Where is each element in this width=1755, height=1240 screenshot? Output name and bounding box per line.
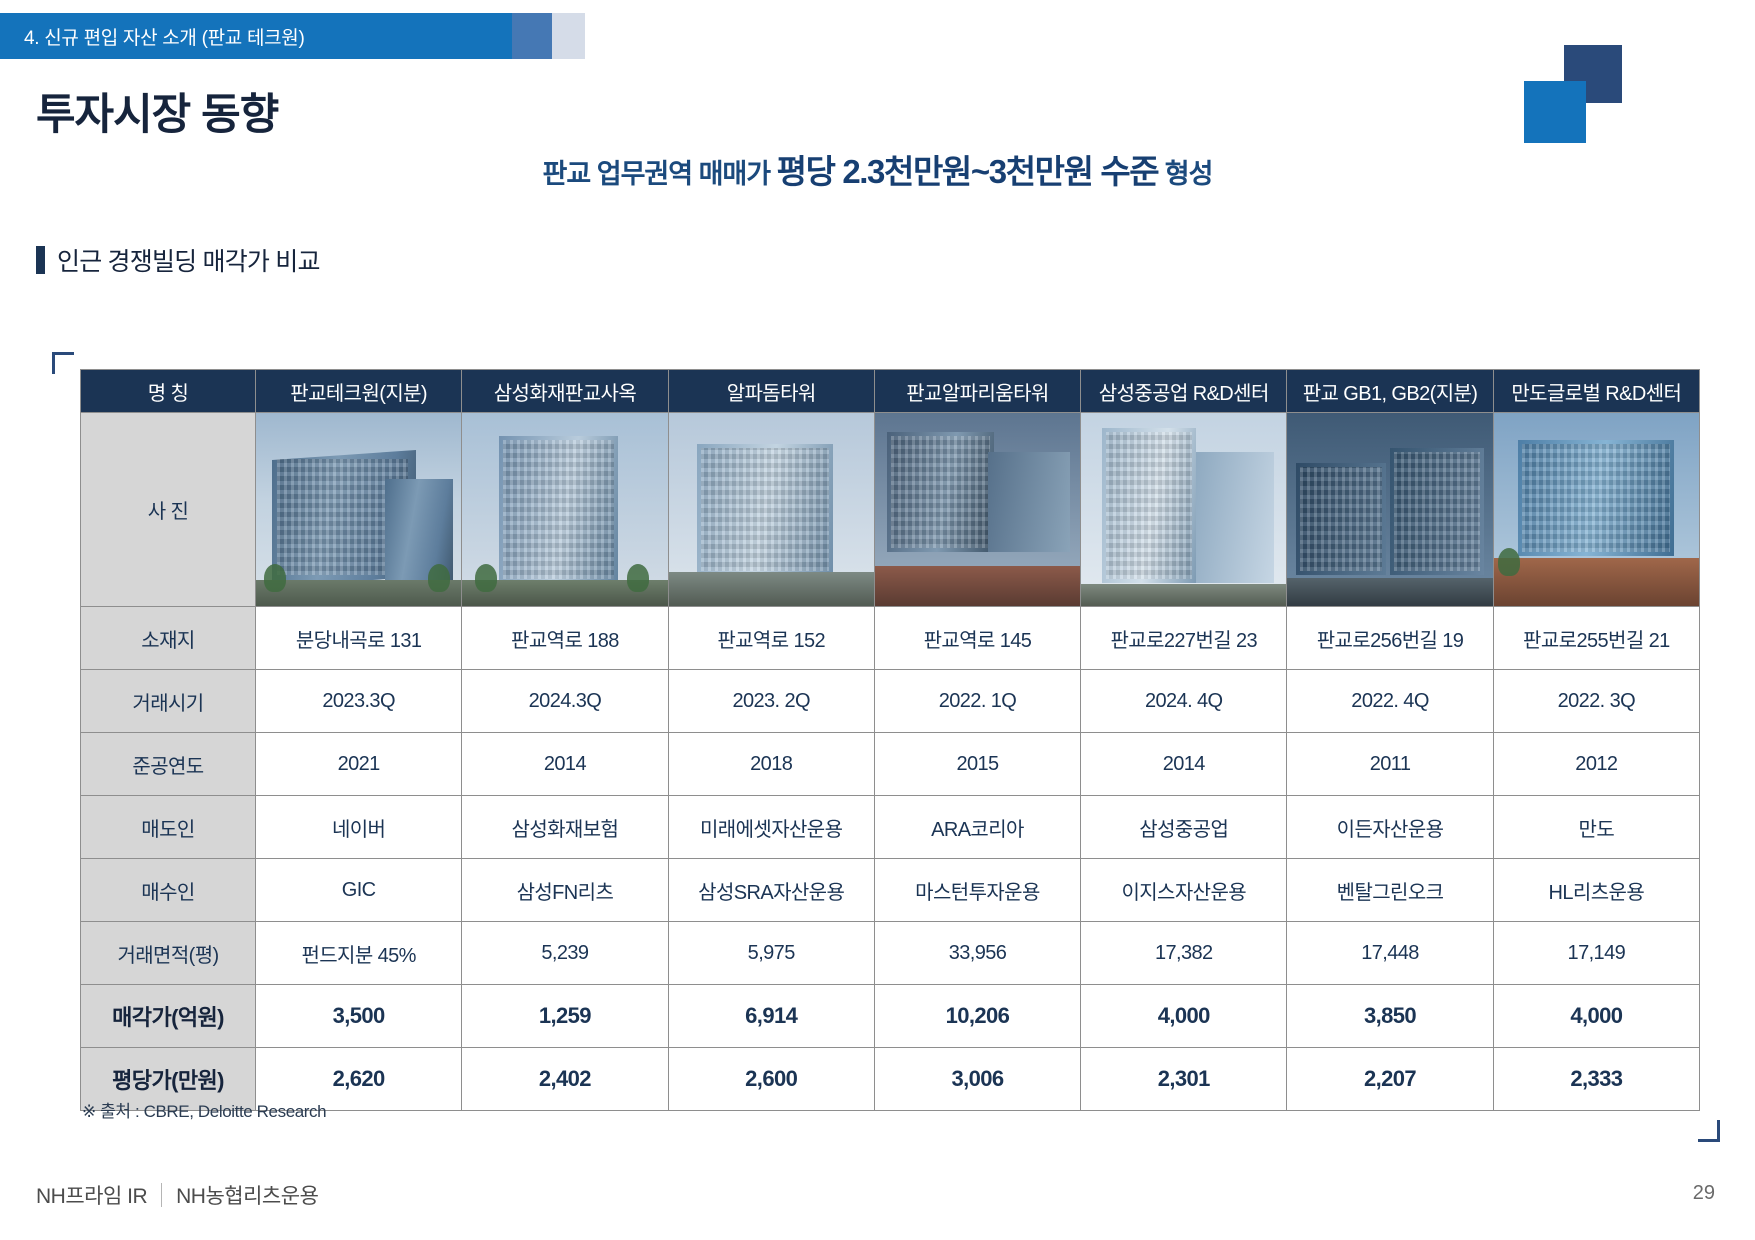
building-photo-samsung-heavy-rnd [1081,413,1287,607]
table-cell: 2023. 2Q [668,670,874,733]
table-cell: 4,000 [1493,985,1699,1048]
table-body: 사 진 [81,413,1700,1111]
table-cell: 2014 [462,733,668,796]
breadcrumb-main: 4. 신규 편입 자산 소개 (판교 테크원) [0,13,512,59]
page-number: 29 [1693,1182,1715,1205]
table-cell: HL리츠운용 [1493,859,1699,922]
column-header: 만도글로벌 R&D센터 [1493,370,1699,413]
table-row: 준공연도 2021 2014 2018 2015 2014 2011 2012 [81,733,1700,796]
subtitle-strong: 평당 2.3천만원~3천만원 수준 [777,153,1159,190]
table-cell: 2022. 1Q [874,670,1080,733]
table-cell: 분당내곡로 131 [256,607,462,670]
subtitle-suffix: 형성 [1158,159,1212,189]
table-cell: GIC [256,859,462,922]
table-cell: 판교로227번길 23 [1081,607,1287,670]
table-row: 매수인 GIC 삼성FN리츠 삼성SRA자산운용 마스턴투자운용 이지스자산운용… [81,859,1700,922]
row-label: 준공연도 [81,733,256,796]
subtitle: 판교 업무권역 매매가 평당 2.3천만원~3천만원 수준 형성 [0,145,1755,193]
building-photo-samsung-fire-pangyo [462,413,668,607]
table-cell: 2021 [256,733,462,796]
row-label: 거래시기 [81,670,256,733]
table-cell: 2024.3Q [462,670,668,733]
row-label: 매수인 [81,859,256,922]
row-label: 사 진 [81,413,256,607]
table-cell: 2,402 [462,1048,668,1111]
table-cell: 2011 [1287,733,1493,796]
subtitle-prefix: 판교 업무권역 매매가 [543,159,777,189]
table-cell: 2014 [1081,733,1287,796]
building-photo-pangyo-techone [256,413,462,607]
table-cell: 이든자산운용 [1287,796,1493,859]
table-row: 소재지 분당내곡로 131 판교역로 188 판교역로 152 판교역로 145… [81,607,1700,670]
footer: NH프라임 IR NH농협리츠운용 [36,1180,318,1210]
source-footnote: ※ 출처 : CBRE, Deloitte Research [82,1097,326,1122]
column-header: 삼성화재판교사옥 [462,370,668,413]
table-cell: 3,850 [1287,985,1493,1048]
comparison-table-wrap: 명 칭 판교테크원(지분) 삼성화재판교사옥 알파돔타워 판교알파리움타워 삼성… [80,369,1700,1111]
table-cell: 17,382 [1081,922,1287,985]
table-cell: 1,259 [462,985,668,1048]
column-header: 판교테크원(지분) [256,370,462,413]
row-label: 거래면적(평) [81,922,256,985]
breadcrumb-label: 4. 신규 편입 자산 소개 (판교 테크원) [24,23,305,50]
table-cell: 미래에셋자산운용 [668,796,874,859]
table-cell: 네이버 [256,796,462,859]
column-header: 판교알파리움타워 [874,370,1080,413]
table-cell: 5,239 [462,922,668,985]
table-cell: 만도 [1493,796,1699,859]
footer-divider [161,1183,162,1207]
frame-corner-top-left-v [52,352,55,374]
table-cell: 삼성SRA자산운용 [668,859,874,922]
table-cell: 삼성중공업 [1081,796,1287,859]
building-photo-mando-global-rnd [1493,413,1699,607]
table-cell: 3,500 [256,985,462,1048]
table-cell: 펀드지분 45% [256,922,462,985]
column-header: 명 칭 [81,370,256,413]
table-row: 사 진 [81,413,1700,607]
table-cell: 2,600 [668,1048,874,1111]
table-cell: 2,333 [1493,1048,1699,1111]
table-row: 매도인 네이버 삼성화재보험 미래에셋자산운용 ARA코리아 삼성중공업 이든자… [81,796,1700,859]
frame-corner-bottom-right-v [1717,1120,1720,1142]
building-photo-pangyo-alpharium-tower [874,413,1080,607]
table-cell: 2018 [668,733,874,796]
table-cell: 벤탈그린오크 [1287,859,1493,922]
section-title: 인근 경쟁빌딩 매각가 비교 [57,242,320,278]
table-row: 매각가(억원) 3,500 1,259 6,914 10,206 4,000 3… [81,985,1700,1048]
table-cell: 17,149 [1493,922,1699,985]
section-heading: 인근 경쟁빌딩 매각가 비교 [36,242,320,278]
table-cell: 4,000 [1081,985,1287,1048]
column-header: 판교 GB1, GB2(지분) [1287,370,1493,413]
building-photo-alphadom-tower [668,413,874,607]
table-cell: 판교역로 188 [462,607,668,670]
table-cell: 2,207 [1287,1048,1493,1111]
table-cell: 마스턴투자운용 [874,859,1080,922]
logo-mark [1524,45,1622,143]
breadcrumb-block-end [552,13,585,59]
table-cell: 2024. 4Q [1081,670,1287,733]
table-cell: 2022. 3Q [1493,670,1699,733]
footer-right-label: NH농협리츠운용 [176,1180,318,1210]
comparison-table: 명 칭 판교테크원(지분) 삼성화재판교사옥 알파돔타워 판교알파리움타워 삼성… [80,369,1700,1111]
table-cell: 3,006 [874,1048,1080,1111]
table-cell: 판교로256번길 19 [1287,607,1493,670]
table-head: 명 칭 판교테크원(지분) 삼성화재판교사옥 알파돔타워 판교알파리움타워 삼성… [81,370,1700,413]
table-cell: 삼성FN리츠 [462,859,668,922]
table-cell: 5,975 [668,922,874,985]
table-cell: 17,448 [1287,922,1493,985]
table-cell: 삼성화재보험 [462,796,668,859]
row-label: 매도인 [81,796,256,859]
logo-square-front [1524,81,1586,143]
building-photo-pangyo-gb1-gb2 [1287,413,1493,607]
table-cell: 33,956 [874,922,1080,985]
row-label: 소재지 [81,607,256,670]
breadcrumb-bar: 4. 신규 편입 자산 소개 (판교 테크원) [0,13,585,59]
table-cell: 2012 [1493,733,1699,796]
column-header: 알파돔타워 [668,370,874,413]
table-cell: 판교역로 145 [874,607,1080,670]
table-cell: 2,301 [1081,1048,1287,1111]
column-header: 삼성중공업 R&D센터 [1081,370,1287,413]
table-cell: 판교역로 152 [668,607,874,670]
frame-corner-top-left-h [52,352,74,355]
table-cell: 판교로255번길 21 [1493,607,1699,670]
table-cell: ARA코리아 [874,796,1080,859]
table-cell: 2023.3Q [256,670,462,733]
breadcrumb-block-mid [512,13,552,59]
table-cell: 10,206 [874,985,1080,1048]
table-cell: 2015 [874,733,1080,796]
table-header-row: 명 칭 판교테크원(지분) 삼성화재판교사옥 알파돔타워 판교알파리움타워 삼성… [81,370,1700,413]
table-row: 거래시기 2023.3Q 2024.3Q 2023. 2Q 2022. 1Q 2… [81,670,1700,733]
row-label: 매각가(억원) [81,985,256,1048]
footer-left-label: NH프라임 IR [36,1180,147,1210]
table-row: 거래면적(평) 펀드지분 45% 5,239 5,975 33,956 17,3… [81,922,1700,985]
table-cell: 2022. 4Q [1287,670,1493,733]
section-bar-icon [36,246,45,274]
page-title: 투자시장 동향 [36,80,278,142]
table-cell: 6,914 [668,985,874,1048]
slide-root: 4. 신규 편입 자산 소개 (판교 테크원) 투자시장 동향 판교 업무권역 … [0,0,1755,1240]
table-cell: 이지스자산운용 [1081,859,1287,922]
